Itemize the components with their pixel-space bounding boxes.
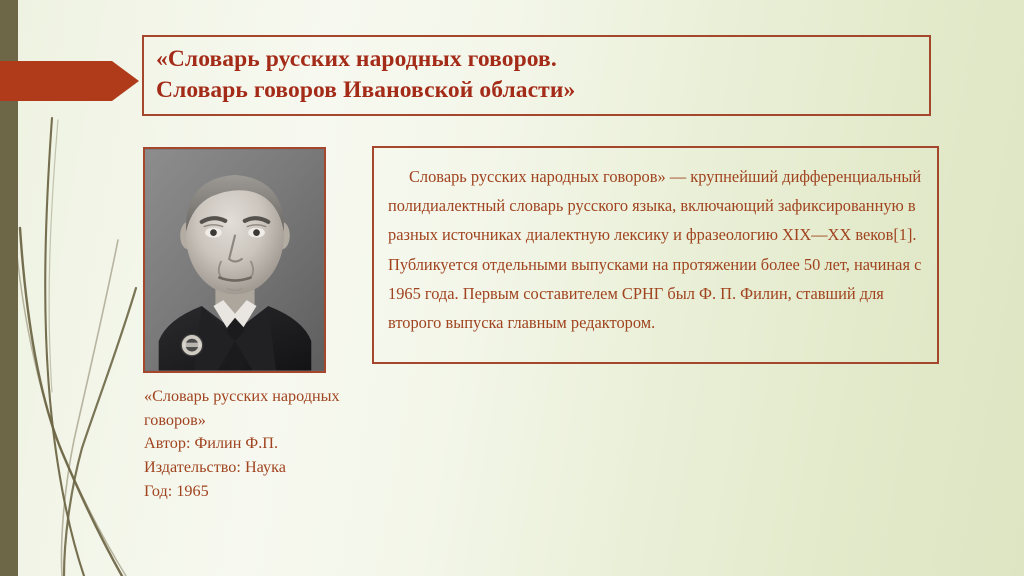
title-box: «Словарь русских народных говоров. Слова… xyxy=(142,35,931,116)
portrait-photo xyxy=(143,147,326,373)
red-arrow-pointer xyxy=(0,61,139,101)
slide-canvas: «Словарь русских народных говоров. Слова… xyxy=(0,0,1024,576)
caption-line-author: Автор: Филин Ф.П. xyxy=(144,432,414,456)
caption-line-publisher: Издательство: Наука xyxy=(144,456,414,480)
caption-line-year: Год: 1965 xyxy=(144,480,414,504)
description-text-box: Словарь русских народных говоров» — круп… xyxy=(372,146,939,364)
caption-line-title-2: говоров» xyxy=(144,409,414,433)
book-caption: «Словарь русских народных говоров» Автор… xyxy=(144,385,414,504)
portrait-image xyxy=(145,149,324,371)
description-paragraph: Словарь русских народных говоров» — круп… xyxy=(388,162,923,337)
page-title-line-1: «Словарь русских народных говоров. xyxy=(156,44,929,75)
page-title-line-2: Словарь говоров Ивановской области» xyxy=(156,75,929,106)
caption-line-title-1: «Словарь русских народных xyxy=(144,385,414,409)
